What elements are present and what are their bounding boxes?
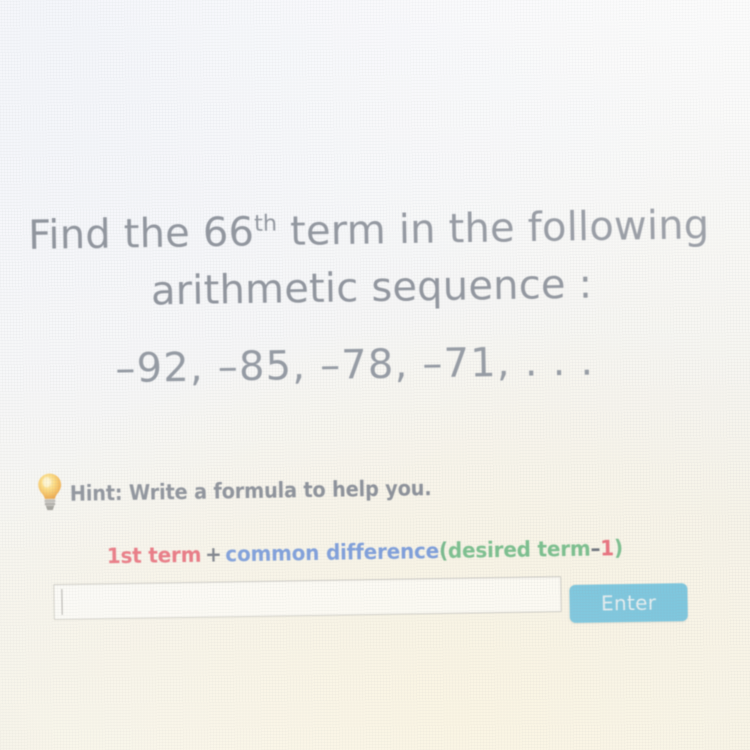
question-line-1: Find the 66th term in the following	[0, 190, 748, 262]
question-line-2: arithmetic sequence :	[0, 256, 749, 320]
question-suffix: term in the following	[277, 202, 710, 255]
ordinal-suffix: th	[254, 211, 277, 237]
quiz-content: Find the 66th term in the following arit…	[0, 0, 750, 750]
formula-one: 1	[600, 536, 614, 560]
formula-first-term: 1st term	[107, 543, 202, 568]
enter-button[interactable]: Enter	[569, 583, 688, 623]
hint-text: Hint: Write a formula to help you.	[70, 476, 432, 506]
answer-row: Enter	[53, 573, 686, 629]
ordinal-number: 66	[203, 209, 255, 256]
formula-desired-term: desired term	[448, 537, 591, 563]
lightbulb-icon	[33, 471, 66, 513]
hint-formula: 1st term+common difference(desired term–…	[107, 536, 623, 568]
screen-photo: Find the 66th term in the following arit…	[0, 0, 750, 750]
formula-common-difference: common difference	[225, 539, 439, 566]
formula-close-paren: )	[614, 536, 623, 560]
formula-plus-operator: +	[201, 542, 226, 566]
sequence-values: –92, –85, –78, –71, . . .	[0, 332, 750, 398]
hint-row: Hint: Write a formula to help you.	[34, 469, 464, 514]
answer-input[interactable]	[53, 576, 562, 620]
question-prefix: Find the	[28, 210, 204, 259]
